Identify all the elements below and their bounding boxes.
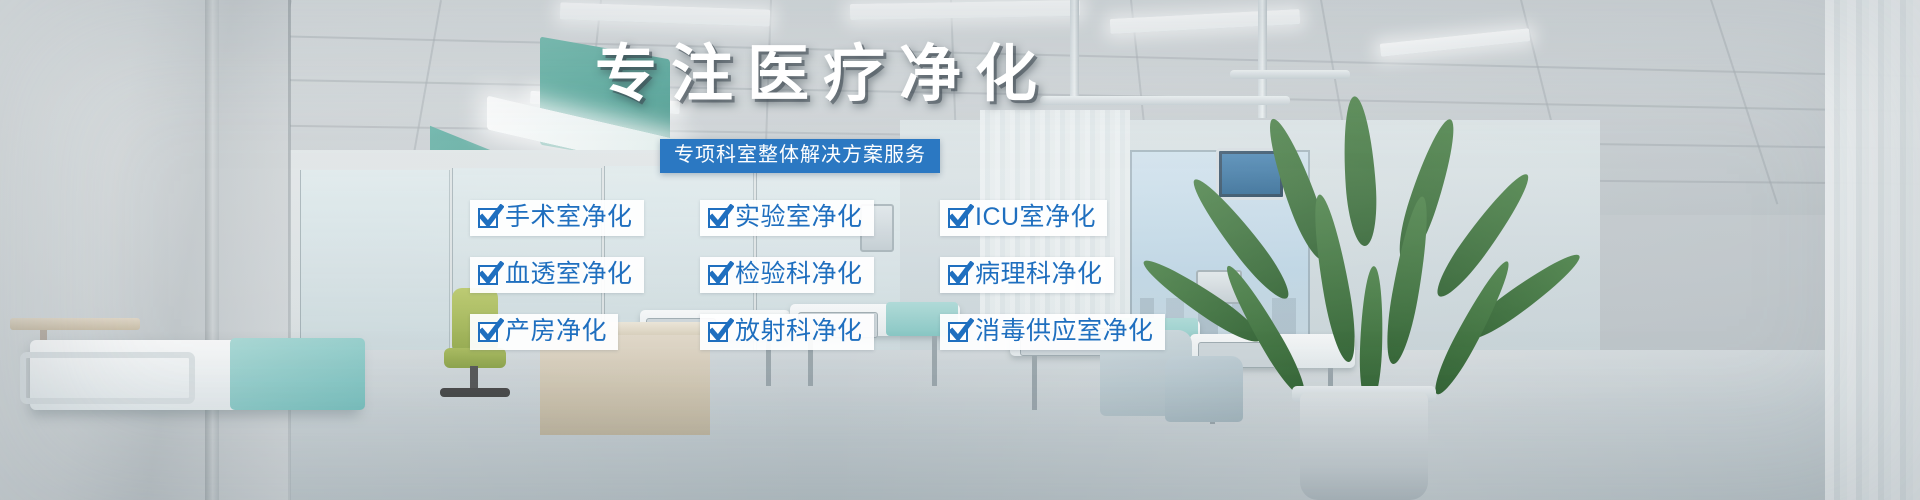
service-item-clinical-lab[interactable]: 检验科净化 (700, 257, 874, 293)
checkbox-checked-icon (478, 265, 498, 285)
service-item-hemodialysis-room[interactable]: 血透室净化 (470, 257, 644, 293)
service-item-label: 检验科净化 (735, 261, 863, 288)
service-item-label: 病理科净化 (975, 261, 1103, 288)
checkbox-checked-icon (478, 208, 498, 228)
service-item-cssd[interactable]: 消毒供应室净化 (940, 314, 1165, 350)
service-item-operating-room[interactable]: 手术室净化 (470, 200, 644, 236)
service-item-label: 手术室净化 (505, 204, 633, 231)
service-column-2: 实验室净化 检验科净化 放射科净化 (700, 200, 874, 371)
service-column-1: 手术室净化 血透室净化 产房净化 (470, 200, 644, 371)
checkbox-checked-icon (478, 322, 498, 342)
service-item-label: ICU室净化 (975, 204, 1096, 231)
service-item-label: 实验室净化 (735, 204, 863, 231)
service-item-icu[interactable]: ICU室净化 (940, 200, 1107, 236)
checkbox-checked-icon (948, 265, 968, 285)
service-column-3: ICU室净化 病理科净化 消毒供应室净化 (940, 200, 1165, 371)
text-overlay: 专注医疗净化 专项科室整体解决方案服务 手术室净化 血透室净化 (0, 0, 1920, 500)
service-item-label: 产房净化 (505, 318, 607, 345)
subtitle-banner: 专项科室整体解决方案服务 (660, 139, 940, 173)
checkbox-checked-icon (708, 208, 728, 228)
service-item-delivery-room[interactable]: 产房净化 (470, 314, 618, 350)
service-item-label: 消毒供应室净化 (975, 318, 1154, 345)
checkbox-checked-icon (948, 208, 968, 228)
medical-purification-banner: 专注医疗净化 专项科室整体解决方案服务 手术室净化 血透室净化 (0, 0, 1920, 500)
service-item-label: 血透室净化 (505, 261, 633, 288)
checkbox-checked-icon (708, 322, 728, 342)
page-title: 专注医疗净化 (595, 42, 1051, 108)
service-item-pathology[interactable]: 病理科净化 (940, 257, 1114, 293)
checkbox-checked-icon (948, 322, 968, 342)
service-item-laboratory[interactable]: 实验室净化 (700, 200, 874, 236)
service-item-label: 放射科净化 (735, 318, 863, 345)
checkbox-checked-icon (708, 265, 728, 285)
service-item-radiology[interactable]: 放射科净化 (700, 314, 874, 350)
